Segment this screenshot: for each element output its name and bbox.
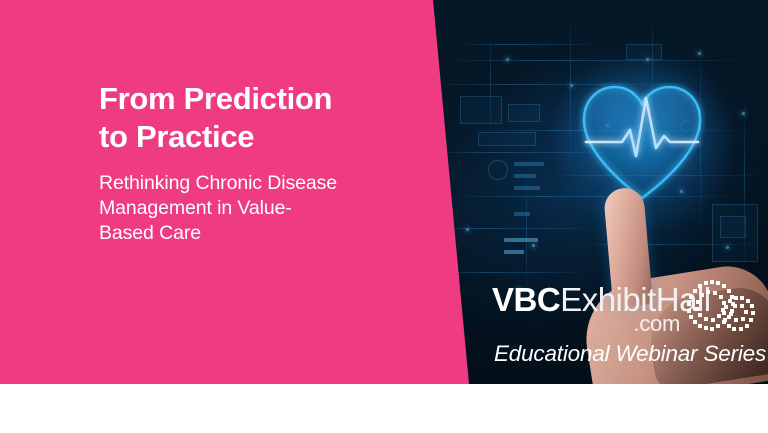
slide-content-band: From Prediction to Practice Rethinking C… <box>0 0 768 384</box>
headline-block: From Prediction to Practice Rethinking C… <box>99 80 419 246</box>
vbc-exhibithall-logo[interactable]: VBCExhibitHall .com <box>492 283 768 375</box>
webinar-title-slide: From Prediction to Practice Rethinking C… <box>0 0 768 433</box>
vbc-tagline: Educational Webinar Series <box>494 341 766 367</box>
dotted-infinity-icon <box>684 279 756 345</box>
slide-title: From Prediction to Practice <box>99 80 419 156</box>
digital-heart-graphic <box>578 82 706 202</box>
slide-footer: Calcium . PulseDataAI Transforming Healt <box>0 384 768 433</box>
vbc-domain-text: .com <box>492 311 680 337</box>
slide-subtitle: Rethinking Chronic Disease Management in… <box>99 171 419 246</box>
